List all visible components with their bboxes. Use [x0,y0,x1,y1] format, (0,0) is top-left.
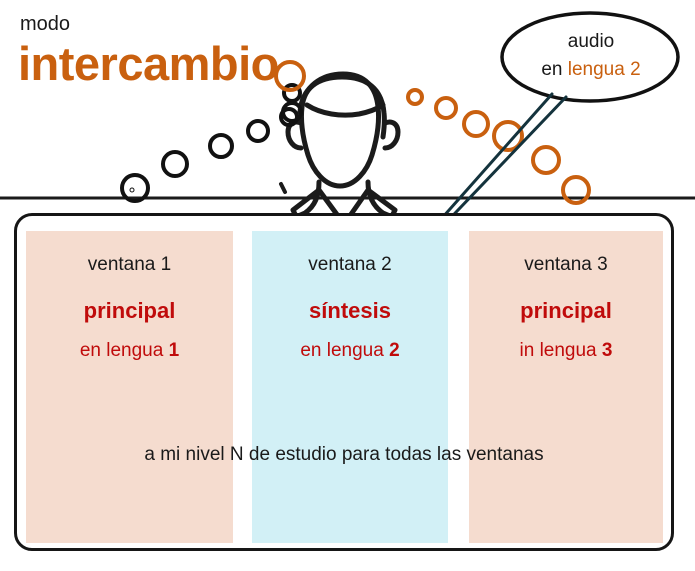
window-column-1-content: ventana 1 principal en lengua 1 [26,231,233,360]
speech-bubble-line-2-accent: lengua 2 [568,59,641,80]
window-column-2-content: ventana 2 síntesis en lengua 2 [252,231,448,360]
black-circle-trail [122,109,297,201]
window-column-2[interactable]: ventana 2 síntesis en lengua 2 [252,231,448,543]
window-language-2-prefix: en lengua [300,340,389,361]
window-column-3[interactable]: ventana 3 principal in lengua 3 [469,231,663,543]
window-language-3-prefix: in lengua [520,340,602,361]
window-language-1-number: 1 [169,340,180,361]
window-language-3: in lengua 3 [469,341,663,360]
window-label-1: ventana 1 [26,255,233,274]
window-label-2: ventana 2 [252,255,448,274]
speech-bubble-line-2-prefix: en [541,59,567,80]
window-role-3: principal [469,300,663,322]
panel-footer-note: a mi nivel N de estudio para todas las v… [14,445,674,464]
mode-kicker: modo [20,14,70,34]
tick-mark-icon [281,184,285,192]
window-language-3-number: 3 [602,340,613,361]
orange-circle-trail [276,62,589,203]
window-language-2: en lengua 2 [252,341,448,360]
window-role-2: síntesis [252,300,448,322]
window-label-3: ventana 3 [469,255,663,274]
black-circle-trail-near-head [283,85,301,121]
window-language-1: en lengua 1 [26,341,233,360]
speech-bubble-line-2: en lengua 2 [508,56,674,84]
diagram-canvas: modo intercambio [0,0,695,571]
speech-bubble-line-1: audio [508,28,674,56]
window-language-2-number: 2 [389,340,400,361]
page-title: intercambio [18,40,279,87]
window-role-1: principal [26,300,233,322]
window-column-3-content: ventana 3 principal in lengua 3 [469,231,663,360]
speech-bubble-text: audio en lengua 2 [508,28,674,83]
window-column-1[interactable]: ventana 1 principal en lengua 1 [26,231,233,543]
window-language-1-prefix: en lengua [80,340,169,361]
